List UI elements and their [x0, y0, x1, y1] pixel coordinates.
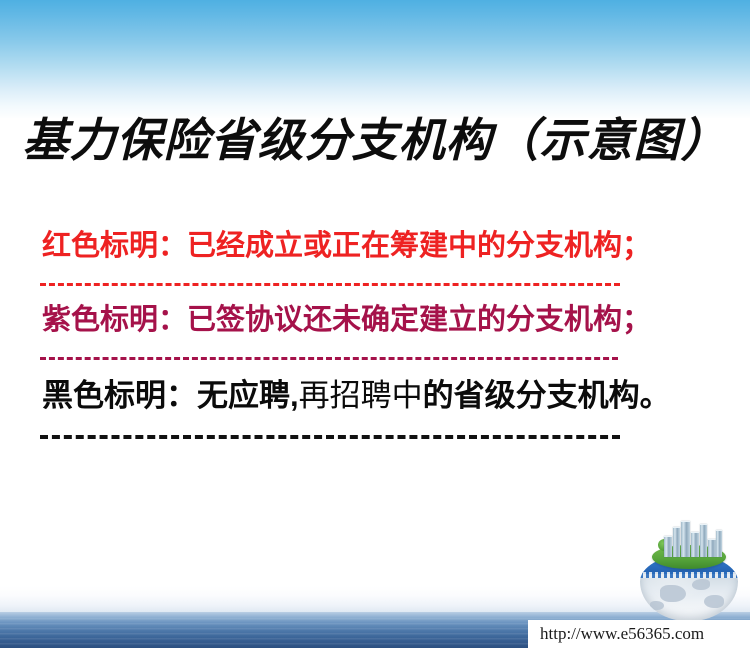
building-icon: [673, 527, 680, 557]
slide-canvas: 基力保险省级分支机构（示意图） 红色标明：已经成立或正在筹建中的分支机构； 紫色…: [0, 0, 750, 648]
watermark-url-text[interactable]: http://www.e56365.com: [540, 624, 704, 644]
legend-row-red: 红色标明：已经成立或正在筹建中的分支机构；: [40, 232, 680, 286]
legend-label-red: 红色标明：已经成立或正在筹建中的分支机构；: [40, 232, 680, 261]
building-icon: [716, 530, 722, 557]
building-icon: [700, 524, 707, 557]
legend-label-black-part3: 的省级分支机构。: [423, 378, 671, 413]
legend-separator-red: [40, 283, 620, 286]
city-skyline-icon: [664, 521, 722, 557]
building-icon: [681, 521, 690, 557]
building-icon: [708, 539, 716, 557]
sky-gradient-background: [0, 0, 750, 120]
globe-coastline-icon: [640, 572, 738, 578]
globe-landmass-icon: [704, 595, 724, 608]
legend-label-black-part1: 黑色标明：无应聘,: [42, 378, 299, 413]
globe-landmass-icon: [692, 579, 710, 590]
building-icon: [664, 536, 672, 557]
legend-label-purple: 紫色标明：已签协议还未确定建立的分支机构；: [40, 306, 680, 335]
legend-separator-purple: [40, 357, 618, 360]
globe-landmass-icon: [660, 585, 686, 602]
legend-separator-black: [40, 435, 620, 439]
building-icon: [691, 532, 699, 557]
globe-landmass-icon: [650, 601, 664, 610]
legend-row-black: 黑色标明：无应聘,再招聘中的省级分支机构。: [40, 380, 680, 439]
legend-block: 红色标明：已经成立或正在筹建中的分支机构； 紫色标明：已签协议还未确定建立的分支…: [40, 232, 680, 439]
legend-label-black: 黑色标明：无应聘,再招聘中的省级分支机构。: [40, 380, 680, 411]
legend-label-black-part2: 再招聘中: [299, 378, 423, 413]
slide-title: 基力保险省级分支机构（示意图）: [0, 104, 750, 170]
globe-city-logo-icon: [638, 521, 742, 623]
legend-row-purple: 紫色标明：已签协议还未确定建立的分支机构；: [40, 306, 680, 360]
watermark-url-band: http://www.e56365.com: [528, 620, 750, 648]
